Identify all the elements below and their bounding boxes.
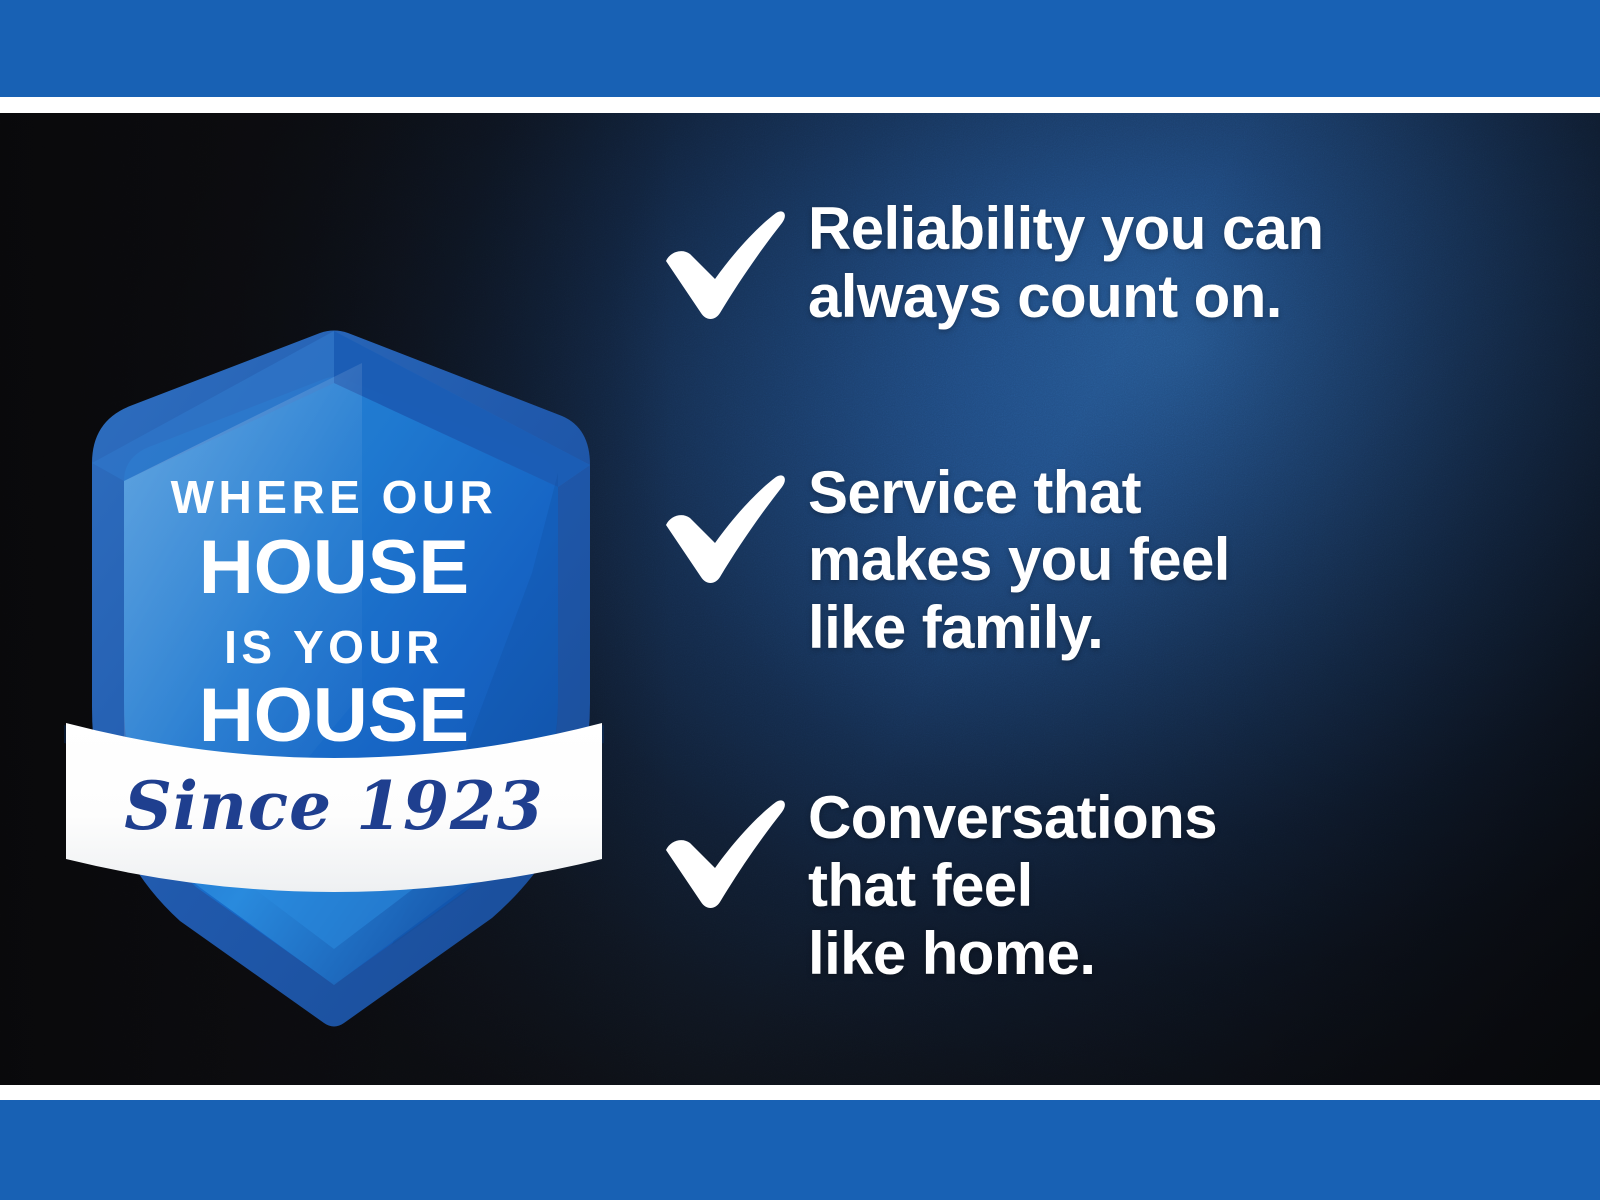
list-item-text: Reliability you can always count on. bbox=[808, 195, 1540, 331]
emblem-line-1: WHERE OUR bbox=[171, 471, 498, 523]
checkmark-icon bbox=[660, 195, 808, 323]
list-item-text: Service that makes you feel like family. bbox=[808, 459, 1540, 662]
emblem-line-4: HOUSE bbox=[199, 673, 469, 758]
bottom-brand-bar bbox=[0, 1100, 1600, 1200]
list-item: Reliability you can always count on. bbox=[660, 195, 1540, 331]
bottom-white-divider bbox=[0, 1085, 1600, 1100]
list-item: Conversations that feel like home. bbox=[660, 784, 1540, 987]
benefit-list: Reliability you can always count on. Ser… bbox=[660, 195, 1540, 987]
checkmark-icon bbox=[660, 459, 808, 587]
emblem-line-3: IS YOUR bbox=[224, 621, 444, 673]
promo-poster: WHERE OUR HOUSE IS YOUR HOUSE Since 1923… bbox=[0, 0, 1600, 1200]
list-item: Service that makes you feel like family. bbox=[660, 459, 1540, 662]
shield-emblem: WHERE OUR HOUSE IS YOUR HOUSE Since 1923 bbox=[62, 273, 607, 1043]
list-item-text: Conversations that feel like home. bbox=[808, 784, 1540, 987]
checkmark-icon bbox=[660, 784, 808, 912]
top-white-divider bbox=[0, 97, 1600, 113]
top-brand-bar bbox=[0, 0, 1600, 97]
ribbon-label: Since 1923 bbox=[124, 767, 544, 845]
emblem-line-2: HOUSE bbox=[199, 525, 469, 610]
